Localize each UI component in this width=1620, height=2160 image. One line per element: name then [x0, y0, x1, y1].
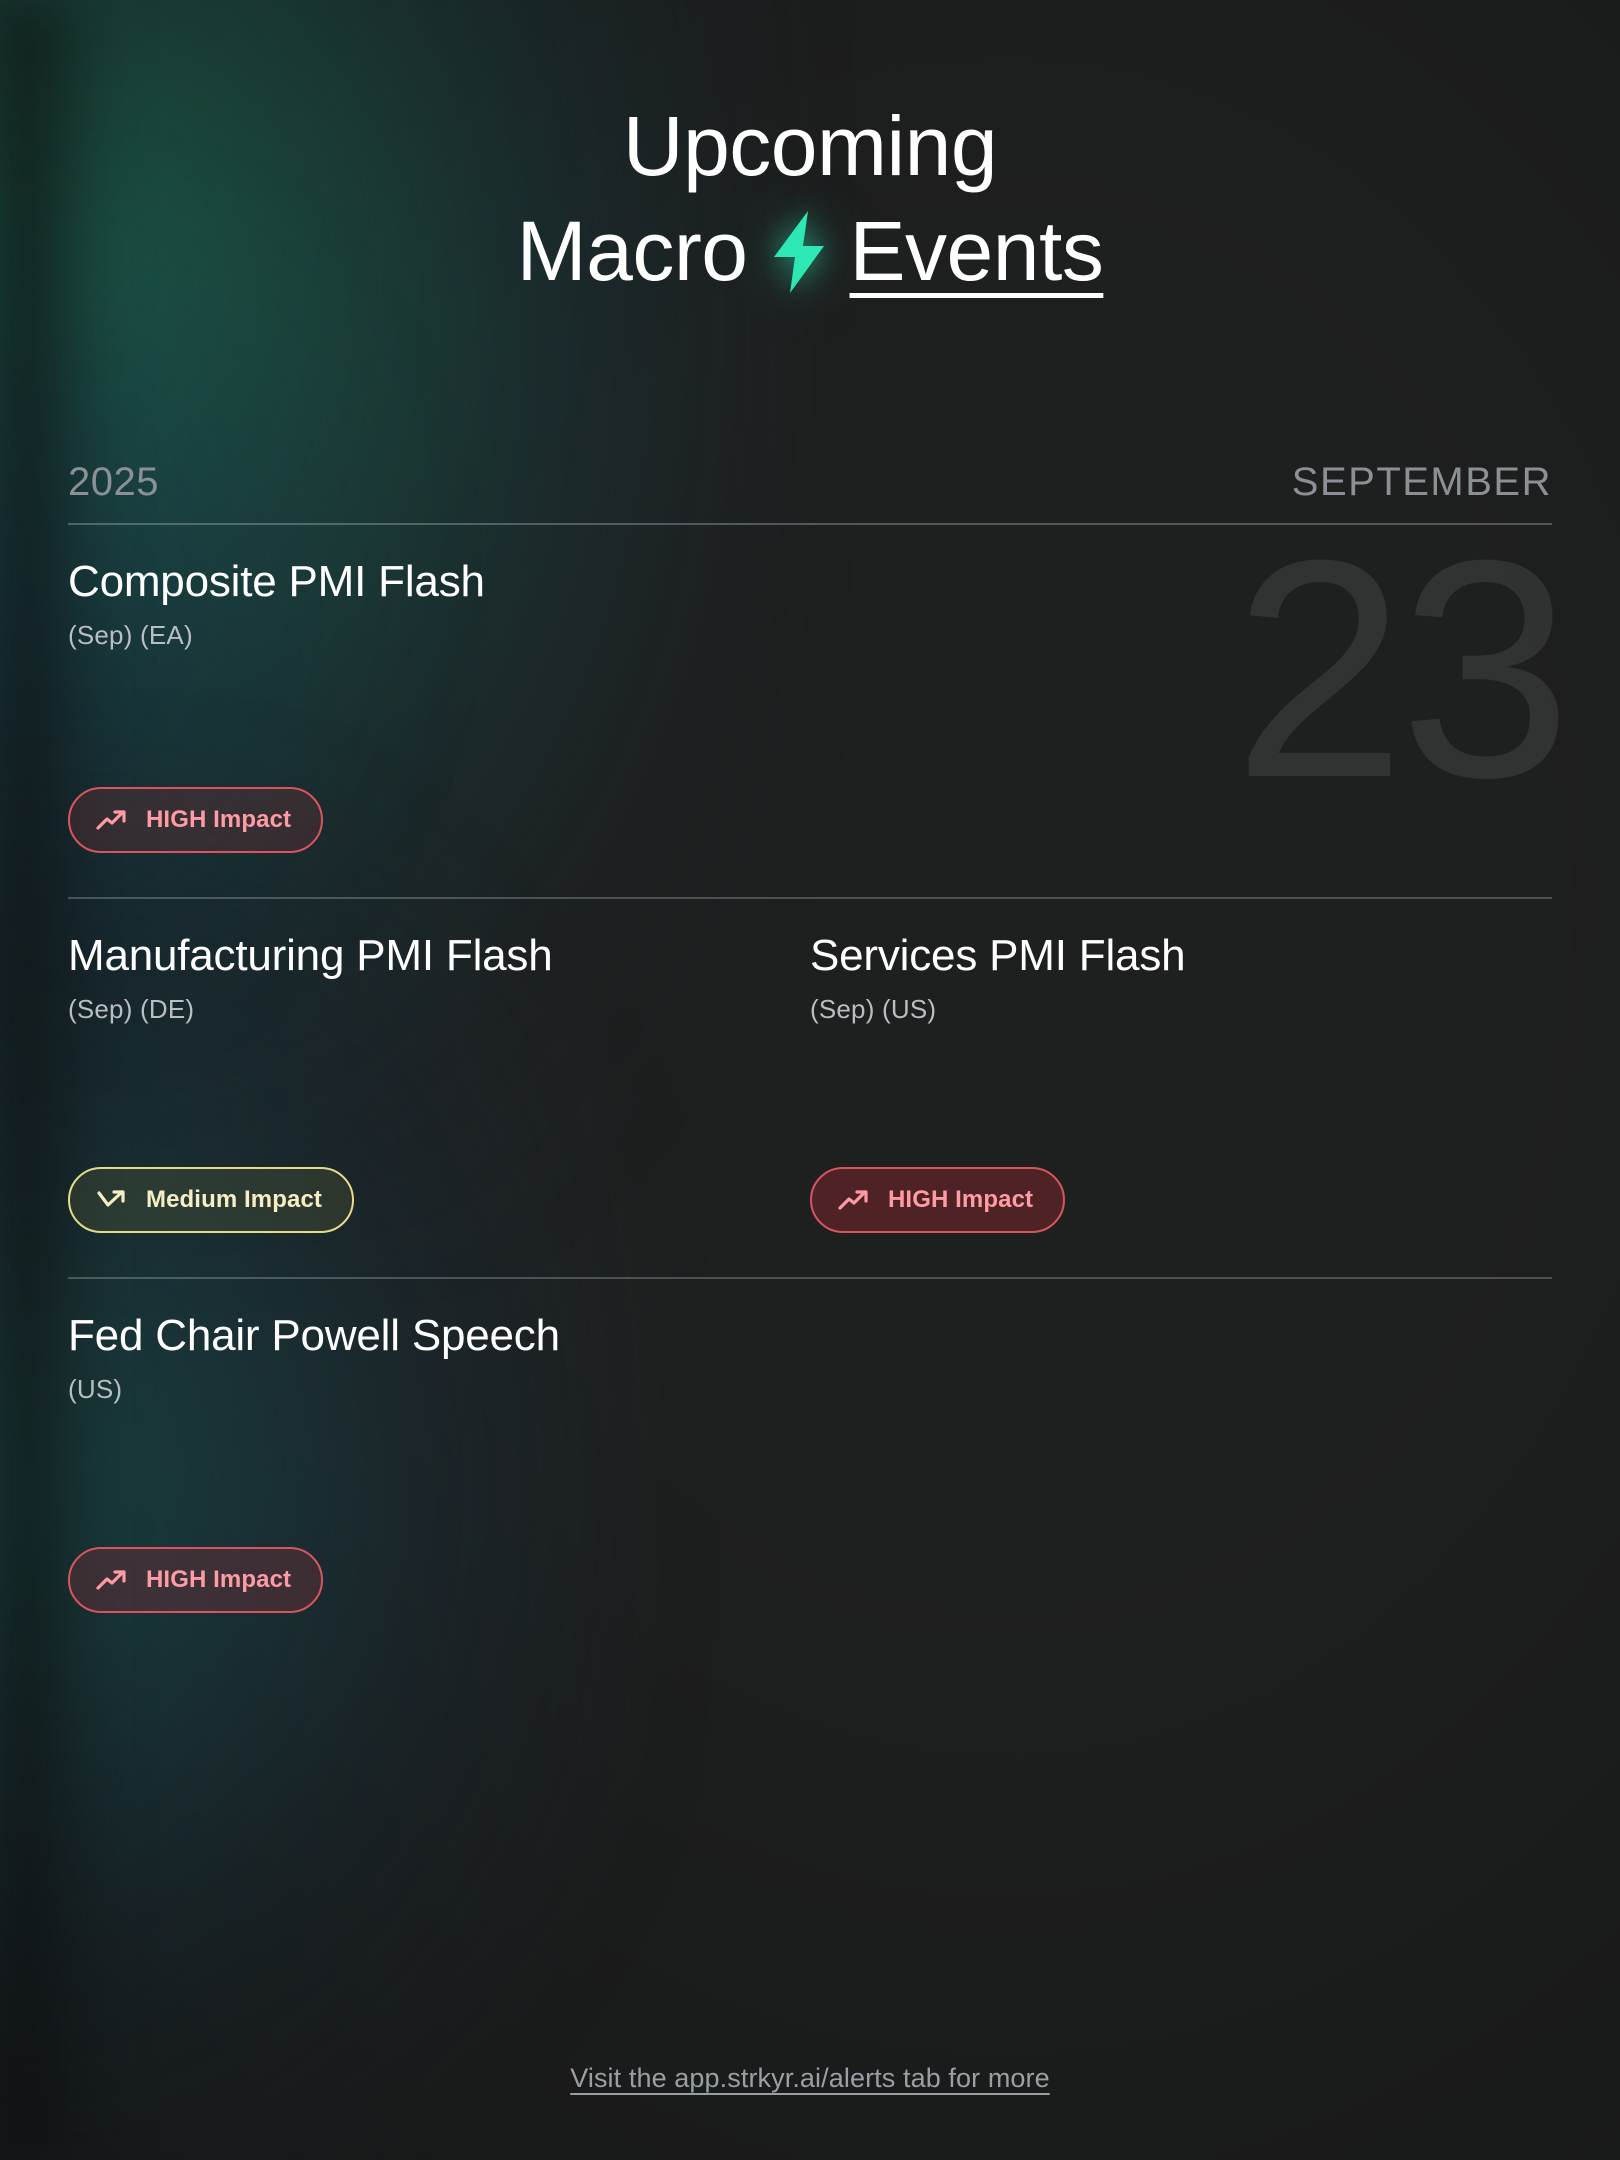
status-badge-label: HIGH Impact — [146, 1566, 291, 1594]
trending-up-icon — [838, 1189, 870, 1211]
status-badge-label: HIGH Impact — [146, 806, 291, 834]
event-row: Manufacturing PMI Flash (Sep) (DE) Mediu… — [68, 897, 1552, 1277]
status-badge[interactable]: Medium Impact — [68, 1167, 354, 1233]
title-line-two: Macro Events — [0, 204, 1620, 300]
trending-up-icon — [96, 809, 128, 831]
badge-slot: HIGH Impact — [810, 1167, 1552, 1233]
lightning-bolt-icon — [756, 204, 842, 300]
status-badge-label: Medium Impact — [146, 1186, 322, 1214]
status-badge[interactable]: HIGH Impact — [810, 1167, 1065, 1233]
title-word-macro: Macro — [517, 209, 748, 295]
event-subtitle: (Sep) (US) — [810, 994, 1552, 1025]
event-row: 23 Composite PMI Flash (Sep) (EA) HIGH I… — [68, 525, 1552, 897]
poster-root: Upcoming Macro Events 2025 SEPTEMBER 23 … — [0, 0, 1620, 2160]
event-card-empty — [810, 1311, 1552, 1657]
event-title: Fed Chair Powell Speech — [68, 1311, 810, 1360]
page-title: Upcoming Macro Events — [0, 0, 1620, 300]
title-word-events: Events — [850, 209, 1104, 295]
title-line-one: Upcoming — [0, 104, 1620, 190]
badge-slot: HIGH Impact — [68, 787, 810, 853]
event-card[interactable]: Manufacturing PMI Flash (Sep) (DE) Mediu… — [68, 931, 810, 1277]
event-card-empty — [810, 557, 1552, 897]
event-card[interactable]: Composite PMI Flash (Sep) (EA) HIGH Impa… — [68, 557, 810, 897]
badge-slot: HIGH Impact — [68, 1547, 810, 1613]
event-title: Composite PMI Flash — [68, 557, 810, 606]
event-title: Services PMI Flash — [810, 931, 1552, 980]
status-badge[interactable]: HIGH Impact — [68, 1547, 323, 1613]
event-subtitle: (Sep) (DE) — [68, 994, 810, 1025]
status-badge-label: HIGH Impact — [888, 1186, 1033, 1214]
calendar-year: 2025 — [68, 460, 159, 505]
badge-slot: Medium Impact — [68, 1167, 810, 1233]
footer-link[interactable]: Visit the app.strkyr.ai/alerts tab for m… — [570, 2063, 1050, 2093]
event-title: Manufacturing PMI Flash — [68, 931, 810, 980]
event-card[interactable]: Fed Chair Powell Speech (US) HIGH Impact — [68, 1311, 810, 1657]
status-badge[interactable]: HIGH Impact — [68, 787, 323, 853]
event-card[interactable]: Services PMI Flash (Sep) (US) HIGH Impac… — [810, 931, 1552, 1277]
trending-up-icon — [96, 1569, 128, 1591]
event-subtitle: (US) — [68, 1374, 810, 1405]
trending-dip-up-icon — [96, 1189, 128, 1211]
event-row: Fed Chair Powell Speech (US) HIGH Impact — [68, 1277, 1552, 1657]
event-subtitle: (Sep) (EA) — [68, 620, 810, 651]
footer: Visit the app.strkyr.ai/alerts tab for m… — [0, 2063, 1620, 2094]
